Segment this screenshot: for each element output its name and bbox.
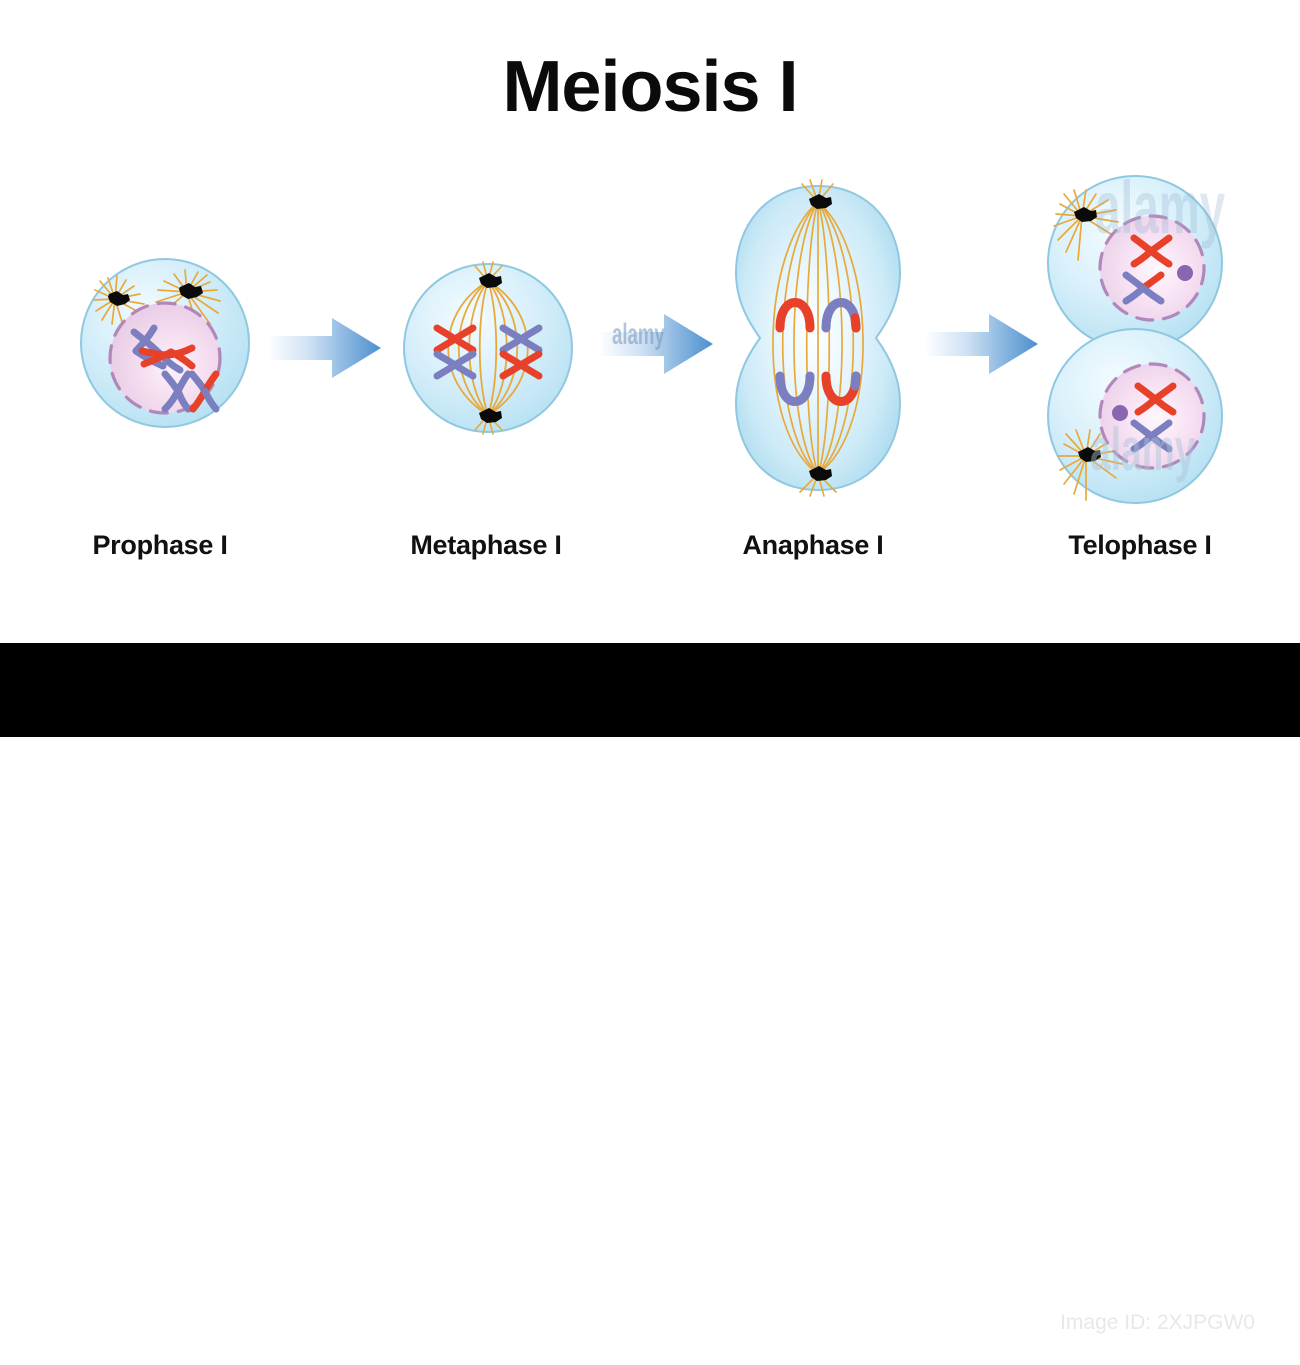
metaphase-cell-figure — [393, 253, 583, 443]
arrow-metaphase-to-anaphase — [600, 308, 715, 380]
daughter-cell-upper — [1048, 176, 1222, 350]
cell-membrane — [404, 264, 572, 432]
image-id-text: Image ID: 2XJPGW0 — [1060, 1311, 1255, 1335]
telophase-cell-figure — [1030, 168, 1240, 508]
arrow-prophase-to-metaphase — [268, 312, 383, 384]
alamy-logo: alamy — [40, 1307, 135, 1361]
alamy-url-text[interactable]: www.alamy.com — [1071, 1337, 1255, 1365]
nucleolus-upper — [1177, 265, 1193, 281]
diagram-canvas: Meiosis I — [0, 0, 1300, 737]
prophase-cell-figure — [70, 248, 260, 438]
page-title: Meiosis I — [0, 48, 1300, 127]
anaphase-cell-figure — [718, 178, 918, 498]
phase-label-telophase: Telophase I — [1010, 530, 1270, 561]
phase-label-anaphase: Anaphase I — [683, 530, 943, 561]
nucleolus-lower — [1112, 405, 1128, 421]
phase-label-prophase: Prophase I — [30, 530, 290, 561]
daughter-cell-lower — [1048, 329, 1222, 503]
watermark-bar: alamy Image ID: 2XJPGW0 www.alamy.com — [0, 643, 1300, 737]
phase-label-metaphase: Metaphase I — [356, 530, 616, 561]
arrow-anaphase-to-telophase — [925, 308, 1040, 380]
